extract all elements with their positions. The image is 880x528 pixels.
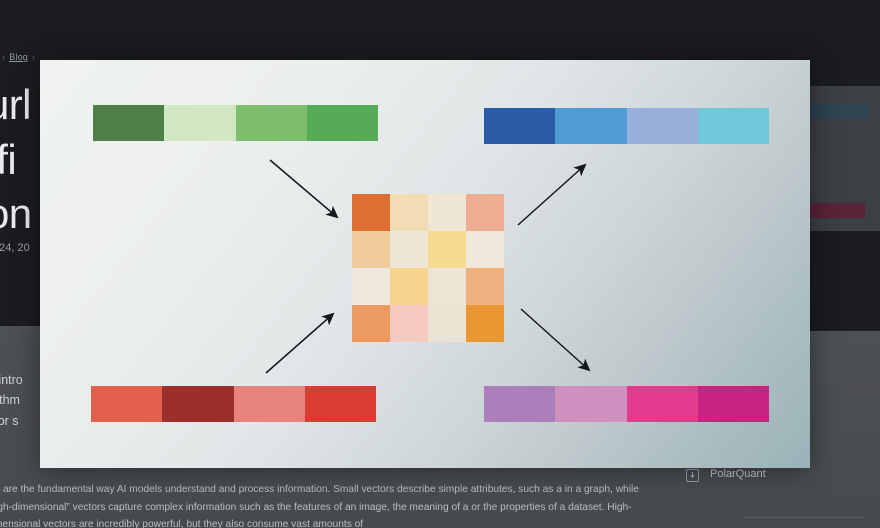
chevron-right-icon-2: › [32, 52, 35, 62]
matrix-cell-r1c2 [390, 194, 428, 231]
matrix-cell-r2c2 [390, 231, 428, 268]
matrix-cell-r3c3 [428, 268, 466, 305]
blue-bar-cell-2 [555, 108, 626, 144]
matrix-cell-r3c1 [352, 268, 390, 305]
matrix-cell-r4c3 [428, 305, 466, 342]
blue-bar-cell-1 [484, 108, 555, 144]
red-bar-cell-2 [162, 386, 233, 422]
blue-bar-cell-3 [627, 108, 698, 144]
matrix-cell-r4c1 [352, 305, 390, 342]
document-icon [686, 469, 699, 482]
arrow-green-to-matrix [270, 160, 337, 217]
matrix-cell-r2c4 [466, 231, 504, 268]
purple-bar-cell-4 [698, 386, 769, 422]
green-bar-cell-2 [164, 105, 235, 141]
red-bar-cell-3 [234, 386, 305, 422]
green-bar-cell-1 [93, 105, 164, 141]
publish-date: h 24, 20 [0, 242, 30, 254]
green-bar-cell-4 [307, 105, 378, 141]
matrix-cell-r2c3 [428, 231, 466, 268]
matrix-cell-r4c4 [466, 305, 504, 342]
matrix-cell-r2c1 [352, 231, 390, 268]
matrix-cell-r3c2 [390, 268, 428, 305]
chevron-right-icon: › [2, 52, 5, 62]
green-bar-cell-3 [236, 105, 307, 141]
matrix-cell-r1c1 [352, 194, 390, 231]
purple-bar-cell-2 [555, 386, 626, 422]
matrix-cell-r4c2 [390, 305, 428, 342]
blue-bar-cell-4 [698, 108, 769, 144]
breadcrumb: › Blog › [2, 52, 35, 62]
arrow-matrix-to-blue [518, 165, 585, 225]
matrix-cell-r3c4 [466, 268, 504, 305]
body-paragraph-text: are the fundamental way AI models unders… [0, 484, 639, 528]
red-bar-cell-1 [91, 386, 162, 422]
toc-divider [744, 517, 864, 518]
red-bar [91, 386, 376, 422]
body-paragraph: ors are the fundamental way AI models un… [0, 481, 666, 528]
matrix-cell-r1c3 [428, 194, 466, 231]
purple-bar [484, 386, 769, 422]
red-bar-cell-4 [305, 386, 376, 422]
toc-item-polarquant[interactable]: PolarQuant [686, 467, 880, 482]
arrow-red-to-matrix [266, 314, 333, 373]
center-matrix [352, 194, 504, 342]
purple-bar-cell-3 [627, 386, 698, 422]
blue-bar [484, 108, 769, 144]
arrow-matrix-to-purple [521, 309, 589, 370]
lightbox-image[interactable] [40, 60, 810, 468]
purple-bar-cell-1 [484, 386, 555, 422]
breadcrumb-link-blog[interactable]: Blog [9, 52, 28, 62]
toc-item-label: PolarQuant [710, 467, 766, 482]
matrix-cell-r1c4 [466, 194, 504, 231]
screen-root: › Blog › url ffi on h 24, 20 e intro ort… [0, 0, 880, 528]
green-bar [93, 105, 378, 141]
